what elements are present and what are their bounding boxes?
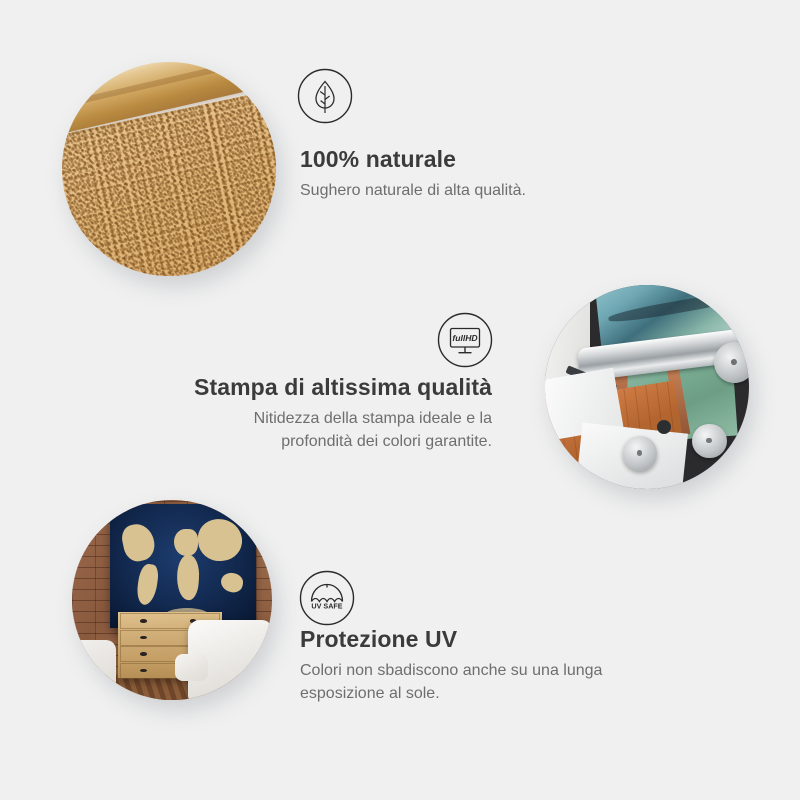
map-continent bbox=[196, 517, 243, 563]
feature-block-natural: 100% naturale Sughero naturale di alta q… bbox=[300, 146, 660, 203]
map-continent bbox=[135, 562, 159, 605]
uv-safe-icon-label: UV SAFE bbox=[311, 602, 342, 611]
room-armchair bbox=[188, 620, 272, 700]
feature-description-uv-line2: esposizione al sole. bbox=[300, 685, 440, 702]
feature-description-uv: Colori non sbadiscono anche su una lunga… bbox=[300, 660, 690, 705]
room-photo-inner bbox=[72, 500, 272, 700]
full-hd-monitor-icon: fullHD bbox=[437, 312, 493, 368]
cork-photo-inner bbox=[62, 62, 276, 276]
feature-block-print: Stampa di altissima qualità Nitidezza de… bbox=[160, 374, 492, 453]
map-continent bbox=[174, 529, 197, 556]
cork-texture-photo bbox=[62, 62, 276, 276]
feature-title-print: Stampa di altissima qualità bbox=[160, 374, 492, 401]
printer-wheel-left bbox=[623, 436, 658, 471]
leaf-icon bbox=[297, 68, 353, 124]
full-hd-icon-label: fullHD bbox=[452, 333, 477, 343]
feature-description-uv-line1: Colori non sbadiscono anche su una lunga bbox=[300, 662, 602, 679]
feature-title-uv: Protezione UV bbox=[300, 626, 690, 653]
living-room-world-map-photo bbox=[72, 500, 272, 700]
feature-title-natural: 100% naturale bbox=[300, 146, 660, 173]
room-armchair-secondary bbox=[72, 640, 116, 700]
feature-description-print-line1: Nitidezza della stampa ideale e la bbox=[254, 410, 492, 427]
feature-description-print: Nitidezza della stampa ideale e la profo… bbox=[160, 408, 492, 453]
printer-photo-inner bbox=[545, 285, 749, 489]
feature-block-uv: Protezione UV Colori non sbadiscono anch… bbox=[300, 626, 690, 705]
feature-highlights-panel: 100% naturale Sughero naturale di alta q… bbox=[0, 0, 800, 800]
map-continent bbox=[176, 554, 201, 600]
feature-description-natural: Sughero naturale di alta qualità. bbox=[300, 180, 660, 203]
map-continent bbox=[219, 571, 244, 594]
room-world-map-art bbox=[110, 504, 256, 628]
printing-machine-photo bbox=[545, 285, 749, 489]
printer-wheel-right bbox=[692, 424, 727, 459]
feature-description-print-line2: profondità dei colori garantite. bbox=[281, 433, 492, 450]
umbrella-uv-safe-icon: UV SAFE bbox=[299, 570, 355, 626]
map-continent bbox=[120, 521, 158, 564]
